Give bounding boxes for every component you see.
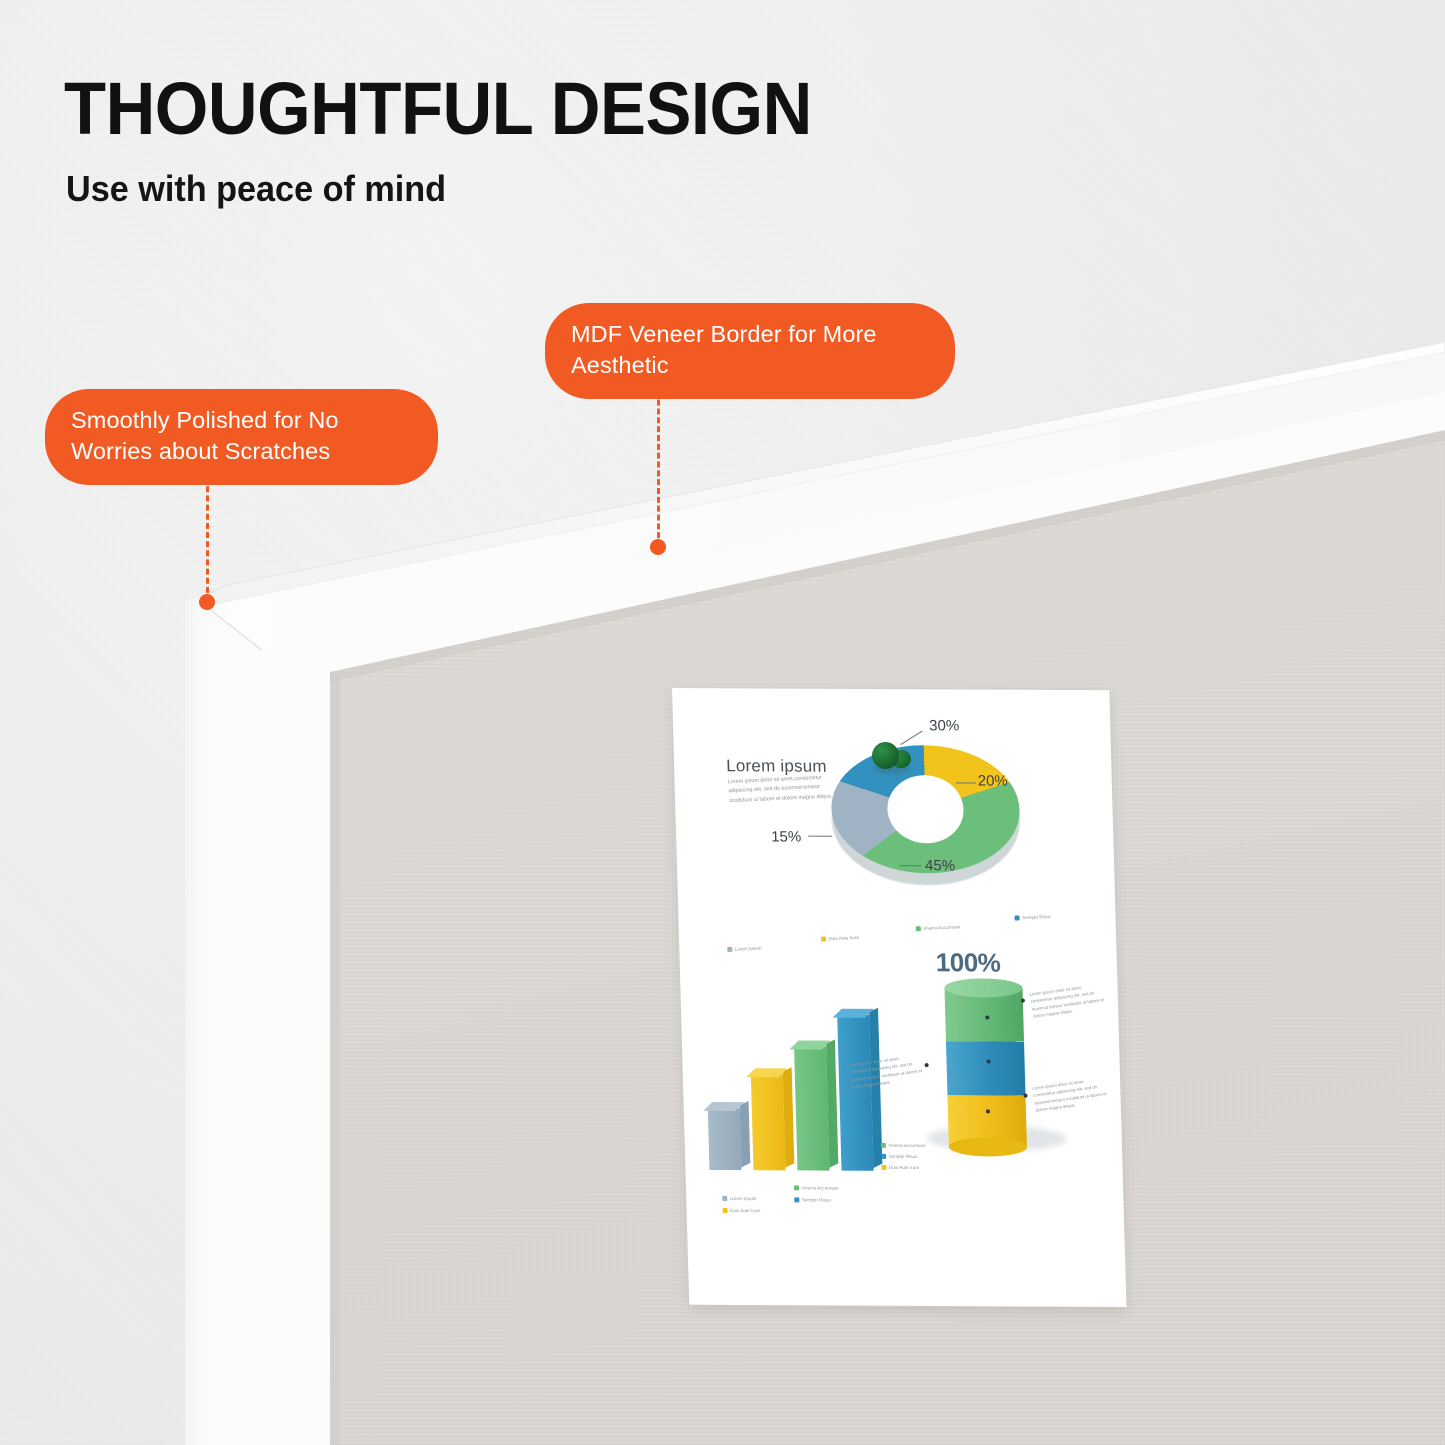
callout-badge-mdf-veneer: MDF Veneer Border for More Aesthetic <box>545 303 955 399</box>
legend-label: Semper Risus <box>889 1154 918 1159</box>
legend-label: Lorem Ipsum <box>730 1196 757 1201</box>
legend-label: Semper Risus <box>802 1197 831 1202</box>
donut-label-15: 15% <box>771 828 802 845</box>
cylinder-body <box>944 987 1027 1147</box>
cylinder-annotation-3: Lorem ipsum dolor sit amet, consectetur … <box>1032 1075 1110 1114</box>
legend-item: Viverra Accumsan <box>916 924 961 931</box>
legend-swatch-duis-aute-irure <box>881 1165 886 1170</box>
bar-face <box>837 1015 873 1171</box>
legend-item: Viverra Accumsan <box>881 1143 926 1148</box>
bar-face <box>794 1046 829 1170</box>
legend-label: Lorem Ipsum <box>735 945 762 951</box>
legend-label: Viverra Accumsan <box>801 1185 838 1190</box>
legend-label: Duis Aute Irure <box>889 1165 920 1170</box>
cylinder-anchor-dot-2 <box>986 1059 990 1063</box>
page-subtitle: Use with peace of mind <box>66 168 446 210</box>
legend-item: Duis Aute Irure <box>821 935 859 942</box>
cylinder-top-cap <box>944 978 1023 997</box>
legend-swatch-viverra-accumsan <box>881 1143 886 1148</box>
legend-item: Duis Aute Irure <box>881 1165 919 1170</box>
bar-side <box>740 1101 751 1167</box>
legend-swatch-viverra-accumsan <box>916 926 921 931</box>
donut-label-45: 45% <box>925 857 956 874</box>
legend-swatch-semper-risus <box>794 1198 799 1203</box>
legend-item: Duis Aute Irure <box>723 1208 761 1213</box>
legend-swatch-viverra-accumsan <box>794 1186 799 1191</box>
frame-left-inner-face <box>262 650 330 1445</box>
bar-face <box>708 1108 742 1170</box>
page-title: THOUGHTFUL DESIGN <box>64 72 812 146</box>
pinned-poster: 30% 20% 15% 45% Lorem ipsum Lorem ipsum … <box>672 688 1126 1307</box>
legend-item: Lorem Ipsum <box>722 1196 756 1201</box>
legend-swatch-semper-risus <box>881 1154 886 1159</box>
bar-face <box>751 1074 786 1170</box>
legend-swatch-lorem-ipsum <box>722 1196 727 1201</box>
cylinder-annotation-dot-2 <box>925 1063 929 1067</box>
callout-badge-smoothly-polished: Smoothly Polished for No Worries about S… <box>45 389 438 485</box>
cylinder-segment-semper-risus <box>946 1041 1026 1095</box>
donut-label-20: 20% <box>977 773 1008 790</box>
legend-item: Semper Risus <box>881 1154 918 1159</box>
cylinder-annotation-dot-3 <box>1023 1094 1027 1098</box>
cylinder-anchor-dot-1 <box>985 1015 989 1019</box>
legend-item: Lorem Ipsum <box>727 945 762 952</box>
board-bevel-left <box>330 672 340 1445</box>
legend-item: Semper Risus <box>1014 914 1051 921</box>
legend-swatch-duis-aute-irure <box>723 1208 728 1213</box>
cylinder-anchor-dot-3 <box>986 1109 990 1113</box>
pin-head <box>872 742 899 769</box>
frame-left-edge <box>185 596 206 1445</box>
cylinder-bottom-cap <box>949 1137 1028 1156</box>
leader-dash <box>206 468 209 602</box>
legend-label: Viverra Accumsan <box>888 1143 925 1148</box>
leader-dash <box>657 382 660 547</box>
cylinder-annotation-1: Lorem ipsum dolor sit amet, consectetur … <box>1029 981 1107 1020</box>
cylinder-chart: 100% Lorem ipsum dolor sit amet, consect… <box>907 947 1114 1188</box>
legend-label: Semper Risus <box>1022 914 1051 920</box>
push-pin-icon <box>872 742 916 776</box>
legend-item: Viverra Accumsan <box>794 1185 839 1190</box>
legend-label: Duis Aute Irure <box>730 1208 761 1213</box>
legend-label: Viverra Accumsan <box>923 924 960 931</box>
legend-swatch-lorem-ipsum <box>727 947 732 952</box>
frame-left-face <box>206 606 262 1445</box>
leader-endpoint-dot <box>199 594 215 610</box>
legend-swatch-duis-aute-irure <box>821 937 826 942</box>
poster-body: Lorem ipsum dolor sit amet,consectetur a… <box>728 773 838 806</box>
legend-item: Semper Risus <box>794 1197 831 1202</box>
bar-lorem-ipsum <box>708 1108 742 1170</box>
bar-side <box>783 1067 795 1167</box>
donut-leader-45 <box>899 865 921 866</box>
product-marketing-image: 30% 20% 15% 45% Lorem ipsum Lorem ipsum … <box>0 0 1445 1445</box>
donut-leader-15 <box>808 836 832 837</box>
cylinder-title: 100% <box>935 947 1000 978</box>
donut-label-30: 30% <box>929 717 960 734</box>
cylinder-annotation-dot-1 <box>1021 999 1025 1003</box>
bar-viverra-accumsan <box>794 1046 829 1170</box>
legend-swatch-semper-risus <box>1014 916 1019 921</box>
leader-endpoint-dot <box>650 539 666 555</box>
bar-duis-aute-irure <box>751 1074 786 1170</box>
donut-leader-20 <box>956 782 976 783</box>
legend-label: Duis Aute Irure <box>828 935 859 941</box>
bar-semper-risus <box>837 1015 873 1171</box>
bar-chart: Lorem Ipsum Duis Aute Irure Viverra Accu… <box>701 1006 906 1197</box>
